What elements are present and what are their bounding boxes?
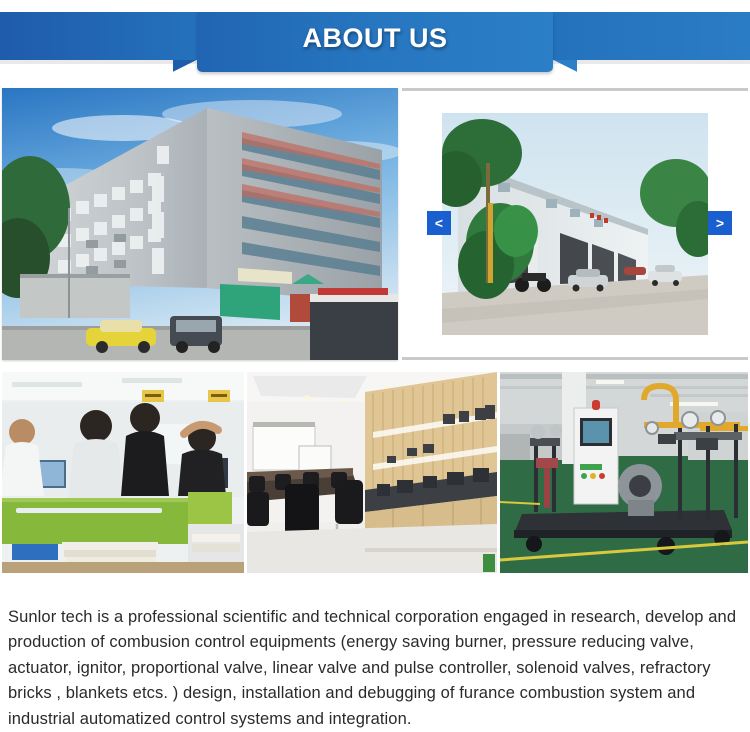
- building-illustration: [2, 88, 398, 360]
- carousel-next-button[interactable]: >: [708, 211, 732, 235]
- equipment-illustration: [500, 372, 748, 573]
- meeting-room-photo: [247, 372, 497, 573]
- page-title: ABOUT US: [197, 12, 553, 64]
- combustion-equipment-photo: [500, 372, 748, 573]
- carousel-prev-button[interactable]: <: [427, 211, 451, 235]
- building-photo-canvas: [2, 88, 398, 360]
- about-description: Sunlor tech is a professional scientific…: [8, 605, 744, 732]
- photo-carousel[interactable]: < >: [402, 88, 748, 360]
- carousel-current-slide: [442, 113, 708, 335]
- engineering-office-photo: [2, 372, 244, 573]
- factory-illustration: [442, 113, 708, 335]
- about-us-banner: ABOUT US: [0, 12, 750, 72]
- banner-notch-right: [553, 60, 577, 72]
- gallery-top-row: < >: [0, 88, 750, 360]
- office-illustration: [2, 372, 244, 573]
- meeting-room-illustration: [247, 372, 497, 573]
- gallery-bottom-row: [0, 372, 750, 573]
- company-building-photo: [2, 88, 398, 360]
- banner-notch-left: [173, 60, 197, 72]
